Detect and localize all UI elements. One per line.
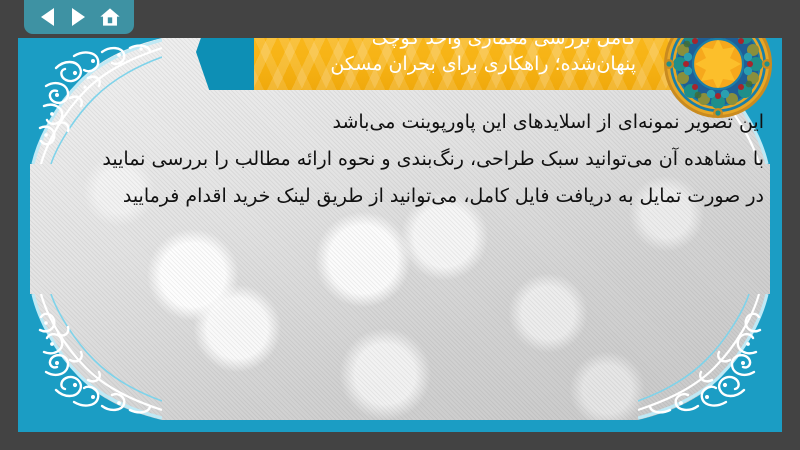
next-arrow-icon[interactable] [66, 4, 92, 30]
slide-body-text: این تصویر نمونه‌ای از اسلایدهای این پاور… [84, 104, 764, 215]
slide-content-area [30, 38, 770, 420]
background-texture [30, 38, 770, 420]
corner-ornament-bottom-right [638, 294, 770, 420]
slide-title-line2: پنهان‌شده؛ راهکاری برای بحران مسکن [330, 52, 636, 78]
slide-viewer: این تصویر نمونه‌ای از اسلایدهای این پاور… [0, 0, 800, 450]
body-line: با مشاهده آن می‌توانید سبک طراحی، رنگ‌بن… [84, 141, 764, 178]
home-icon[interactable] [97, 4, 123, 30]
prev-arrow-icon[interactable] [35, 4, 61, 30]
body-line: در صورت تمایل به دریافت فایل کامل، می‌تو… [84, 178, 764, 215]
slide-navigation-bar [24, 0, 134, 34]
corner-ornament-bottom-left [30, 294, 162, 420]
